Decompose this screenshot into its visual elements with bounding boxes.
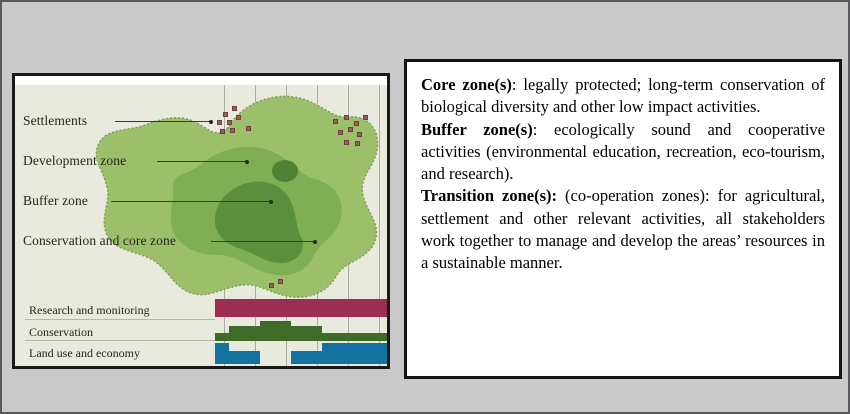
cluster-east-dot-7 — [357, 132, 362, 137]
core-zone-lead: Core zone(s) — [421, 75, 512, 94]
cluster-east-dot-9 — [355, 141, 360, 146]
bar-segment-land-use-and-economy-3 — [291, 351, 322, 364]
cluster-east-dot-2 — [344, 115, 349, 120]
cluster-east-dot-6 — [348, 127, 353, 132]
cluster-east-dot-1 — [333, 119, 338, 124]
diagram-canvas: SettlementsDevelopment zoneBuffer zoneCo… — [15, 85, 387, 366]
leader-line-3 — [111, 201, 271, 202]
cluster-east-dot-5 — [338, 130, 343, 135]
transition-zone-shape — [96, 96, 377, 297]
bar-segment-conservation-1 — [215, 333, 229, 341]
cluster-west-dot-1 — [223, 112, 228, 117]
guide-line-4 — [317, 85, 318, 366]
leader-line-1 — [115, 121, 211, 122]
bar-segment-conservation-4 — [291, 326, 322, 341]
bar-segment-land-use-and-economy-2 — [229, 351, 260, 364]
transition-zone-paragraph: Transition zone(s): (co-operation zones)… — [421, 185, 825, 274]
bar-segment-conservation-3 — [260, 321, 291, 341]
page-frame: SettlementsDevelopment zoneBuffer zoneCo… — [0, 0, 850, 414]
cluster-south-dot-2 — [278, 279, 283, 284]
guide-line-6 — [379, 85, 380, 366]
zone-definitions-panel: Core zone(s): legally protected; long-te… — [404, 59, 842, 379]
leader-line-2 — [157, 161, 247, 162]
bar-label-land-use-and-economy: Land use and economy — [29, 346, 140, 361]
core-zone-shape — [215, 181, 303, 263]
bar-segment-conservation-2 — [229, 326, 260, 341]
cluster-south-dot-1 — [269, 283, 274, 288]
zone-label-conservation-and-core-zone: Conservation and core zone — [23, 233, 176, 249]
cluster-west-dot-2 — [232, 106, 237, 111]
cluster-west-dot-7 — [230, 128, 235, 133]
cluster-east-dot-4 — [363, 115, 368, 120]
leader-endpoint-1 — [209, 120, 213, 124]
cluster-east-dot-8 — [344, 140, 349, 145]
bar-label-conservation: Conservation — [29, 325, 93, 340]
zone-label-settlements: Settlements — [23, 113, 87, 129]
zone-label-development-zone: Development zone — [23, 153, 126, 169]
leader-line-4 — [211, 241, 315, 242]
core-zone-paragraph: Core zone(s): legally protected; long-te… — [421, 74, 825, 119]
bar-label-research-and-monitoring: Research and monitoring — [29, 303, 150, 318]
bar-segment-land-use-and-economy-1 — [215, 343, 229, 364]
leader-endpoint-4 — [313, 240, 317, 244]
transition-zone-lead: Transition zone(s): — [421, 186, 557, 205]
bar-segment-research-and-monitoring-1 — [215, 299, 387, 317]
guide-line-1 — [224, 85, 225, 366]
cluster-west-dot-5 — [236, 115, 241, 120]
buffer-zone-lead: Buffer zone(s) — [421, 120, 533, 139]
bar-separator-1 — [25, 319, 215, 320]
guide-line-2 — [255, 85, 256, 366]
cluster-west-dot-4 — [227, 120, 232, 125]
bar-segment-land-use-and-economy-4 — [322, 343, 387, 364]
cluster-west-dot-6 — [220, 129, 225, 134]
cluster-east-dot-3 — [354, 121, 359, 126]
bar-segment-conservation-5 — [322, 333, 387, 341]
cluster-west-dot-3 — [217, 120, 222, 125]
buffer-zone-paragraph: Buffer zone(s): ecologically sound and c… — [421, 119, 825, 186]
leader-endpoint-2 — [245, 160, 249, 164]
leader-endpoint-3 — [269, 200, 273, 204]
bar-separator-2 — [25, 340, 215, 341]
core-islet-shape — [272, 160, 298, 182]
zone-label-buffer-zone: Buffer zone — [23, 193, 88, 209]
cluster-west-dot-8 — [246, 126, 251, 131]
biosphere-diagram-panel: SettlementsDevelopment zoneBuffer zoneCo… — [12, 73, 390, 369]
